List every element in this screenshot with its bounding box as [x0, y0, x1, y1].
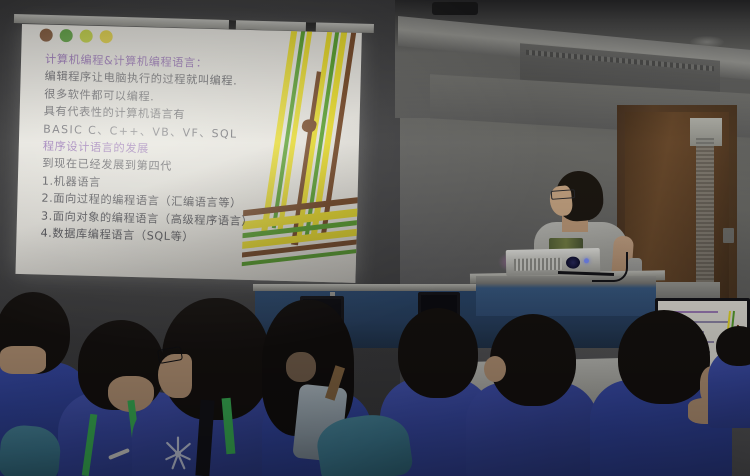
podium	[476, 276, 656, 316]
projector-cable	[592, 252, 628, 282]
projector-lens-icon	[566, 256, 580, 268]
dot-brown	[40, 28, 53, 41]
dot-yellow-green	[80, 30, 93, 43]
ceiling-fixture	[432, 2, 478, 15]
glasses-icon	[551, 189, 576, 200]
ceiling-light	[690, 36, 724, 48]
dot-yellow	[100, 30, 113, 43]
projection-screen: 计算机编程&计算机编程语言： 编辑程序让电脑执行的过程就叫编程. 很多软件都可以…	[15, 24, 361, 283]
door-glass-panel	[696, 138, 714, 306]
projector-power-led	[584, 258, 589, 263]
classroom-photo: 计算机编程&计算机编程语言： 编辑程序让电脑执行的过程就叫编程. 很多软件都可以…	[0, 0, 750, 476]
slide-decor-dots	[40, 28, 113, 43]
dot-green	[60, 29, 73, 42]
shirt-star-logo-icon	[160, 432, 196, 472]
wall-switch-plate[interactable]	[723, 228, 734, 243]
projector-vent	[514, 258, 562, 271]
slide-text-block: 计算机编程&计算机编程语言： 编辑程序让电脑执行的过程就叫编程. 很多软件都可以…	[40, 51, 295, 249]
